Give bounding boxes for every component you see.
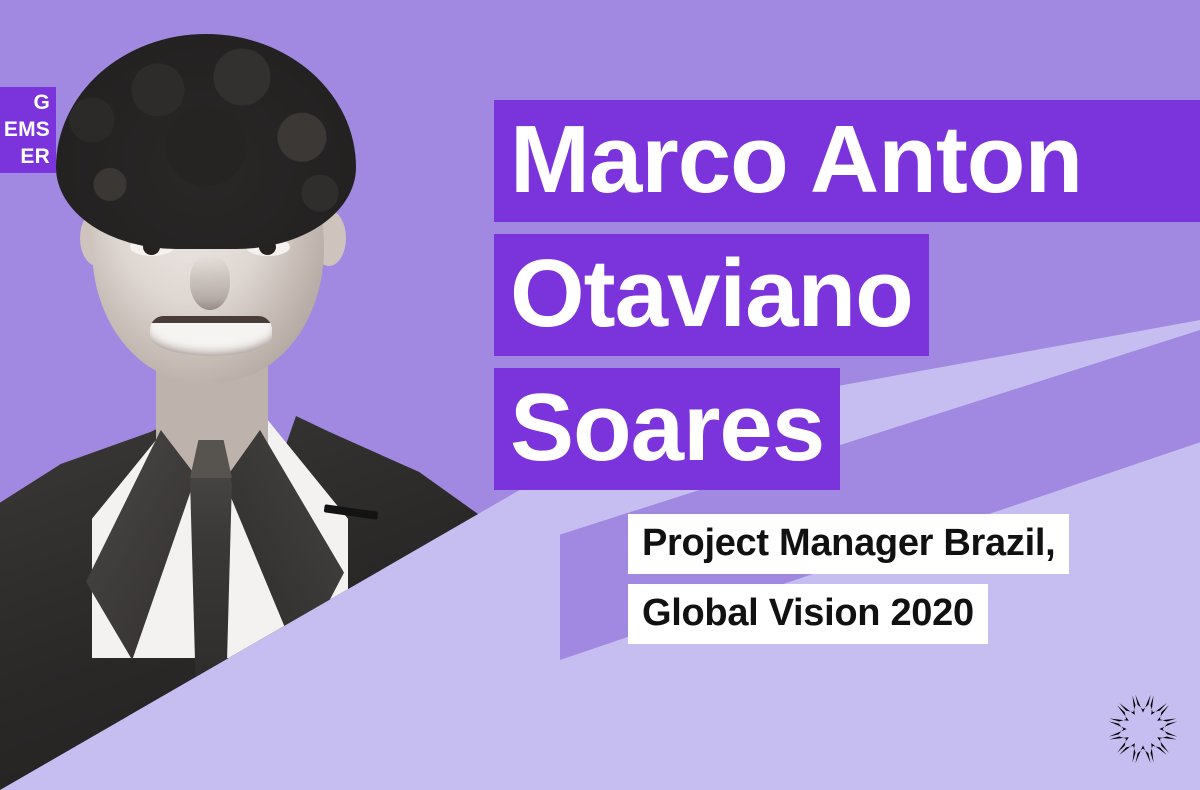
logo-wedge — [1159, 721, 1177, 736]
corner-badge-line-1: G — [0, 89, 56, 116]
logo-wedge — [1119, 696, 1135, 715]
logo-wedge — [1135, 745, 1150, 763]
logo-wedge — [1157, 737, 1176, 753]
corner-badge-line-3: ER — [0, 143, 56, 170]
logo-wedge — [1157, 705, 1176, 721]
speaker-role-line-2: Global Vision 2020 — [628, 584, 988, 644]
speaker-name-line-2: Otaviano — [494, 234, 929, 356]
speaker-name: Marco Anton Otaviano Soares — [494, 100, 1200, 502]
speaker-card: G EMS ER Marco Anton Otaviano Soares Pro… — [0, 0, 1200, 790]
logo-wedge — [1109, 721, 1127, 736]
corner-badge-line-2: EMS — [0, 116, 56, 143]
logo-wedge — [1119, 743, 1135, 762]
portrait-nose — [190, 256, 230, 310]
logo-wedge — [1110, 705, 1129, 721]
speaker-role: Project Manager Brazil, Global Vision 20… — [628, 514, 1069, 654]
speaker-name-line-1: Marco Anton — [494, 100, 1200, 222]
logo-wedge — [1151, 743, 1167, 762]
portrait-smile — [150, 316, 272, 356]
sunburst-logo — [1104, 690, 1182, 768]
logo-wedge — [1151, 696, 1167, 715]
logo-wedge — [1110, 737, 1129, 753]
portrait-hair — [56, 34, 356, 249]
corner-badge: G EMS ER — [0, 87, 56, 173]
speaker-name-line-3: Soares — [494, 368, 840, 490]
logo-wedge — [1135, 695, 1150, 713]
speaker-role-line-1: Project Manager Brazil, — [628, 514, 1069, 574]
